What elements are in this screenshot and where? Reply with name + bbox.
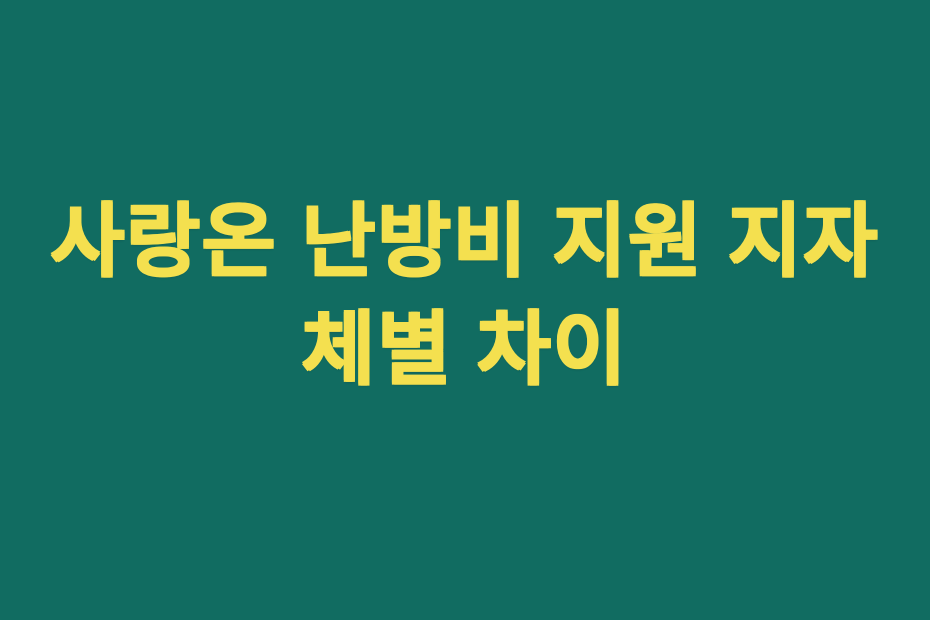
title-line-1: 사랑온 난방비 지원 지자 bbox=[51, 188, 880, 296]
title-card: 사랑온 난방비 지원 지자 체별 차이 bbox=[0, 0, 930, 620]
page-title: 사랑온 난방비 지원 지자 체별 차이 bbox=[45, 188, 885, 404]
title-line-2: 체별 차이 bbox=[302, 296, 629, 404]
